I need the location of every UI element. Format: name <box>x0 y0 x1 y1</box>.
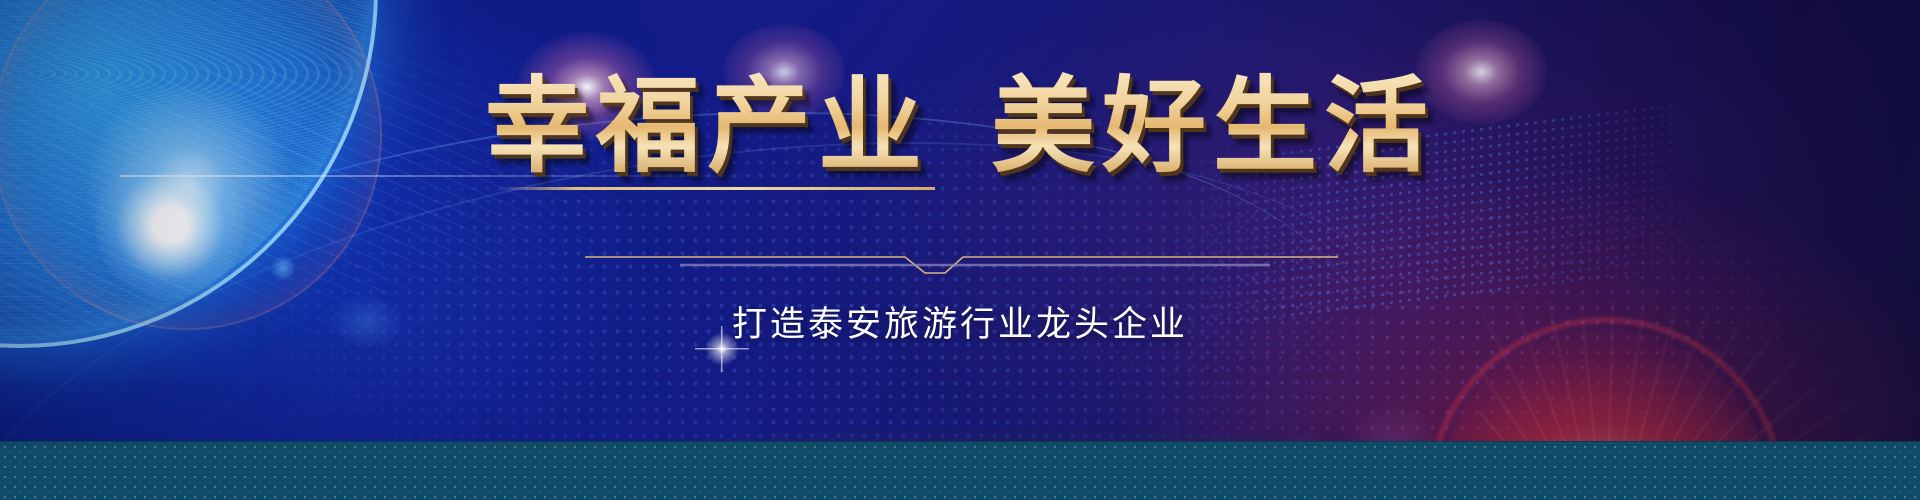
title-text-primary: 幸福产业 <box>485 72 929 182</box>
title-gold-underline <box>497 187 935 190</box>
gold-divider-ornament <box>0 248 1920 282</box>
title-segment-1: 幸福产业 <box>485 72 929 182</box>
banner-content: 幸福产业 美好生活 打造泰安旅游行业龙头企业 <box>0 0 1920 500</box>
title-text-secondary: 美好生活 <box>991 72 1435 182</box>
banner-subtitle: 打造泰安旅游行业龙头企业 <box>0 296 1920 347</box>
bottom-teal-bar <box>0 441 1920 500</box>
hero-banner: 幸福产业 美好生活 打造泰安旅游行业龙头企业 <box>0 0 1920 500</box>
title-segment-2: 美好生活 <box>991 72 1435 182</box>
banner-title: 幸福产业 美好生活 <box>0 72 1920 182</box>
